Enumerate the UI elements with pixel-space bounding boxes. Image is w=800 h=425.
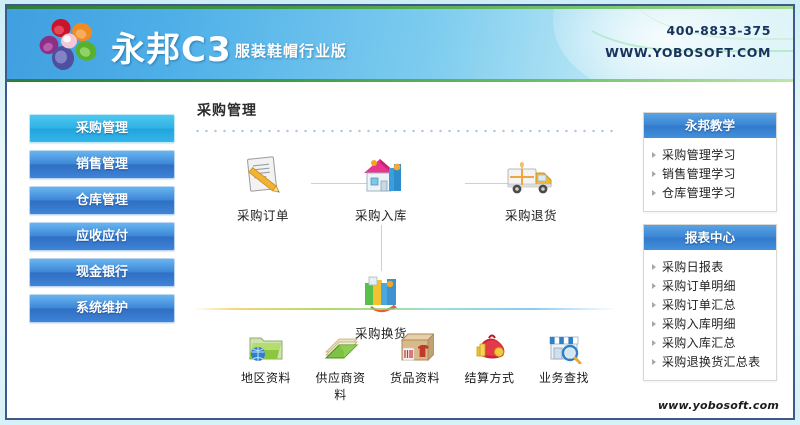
quick-link-settlement-method[interactable]: 结算方式 xyxy=(459,324,521,403)
list-item[interactable]: 采购退换货汇总表 xyxy=(644,353,776,372)
flow-node-purchase-inbound[interactable]: 采购入库 xyxy=(333,147,429,224)
brand-name: 永邦C3 xyxy=(111,22,232,71)
tutorial-card: 永邦教学 采购管理学习 销售管理学习 仓库管理学习 xyxy=(643,112,777,212)
list-item[interactable]: 采购入库汇总 xyxy=(644,334,776,353)
list-item[interactable]: 仓库管理学习 xyxy=(644,184,776,203)
report-center-card-body: 采购日报表 采购订单明细 采购订单汇总 采购入库明细 采购入库汇总 采购退换货汇… xyxy=(644,250,776,380)
flow-node-purchase-return[interactable]: 采购退货 xyxy=(483,147,579,224)
report-center-card: 报表中心 采购日报表 采购订单明细 采购订单汇总 采购入库明细 采购入库汇总 采… xyxy=(643,224,777,381)
delivery-truck-icon xyxy=(483,147,579,199)
brand-subtitle: 服装鞋帽行业版 xyxy=(235,40,347,61)
page-frame: 永邦C3 服装鞋帽行业版 400-8833-375 WWW.YOBOSOFT.C… xyxy=(5,4,795,420)
document-pencil-icon xyxy=(215,147,311,199)
quick-link-label: 地区资料 xyxy=(235,369,297,386)
quick-link-label: 业务查找 xyxy=(533,369,595,386)
sidebar-item-receivable-payable[interactable]: 应收应付 xyxy=(29,222,175,251)
list-item[interactable]: 采购入库明细 xyxy=(644,315,776,334)
quick-link-label: 货品资料 xyxy=(384,369,446,386)
header-contact: 400-8833-375 WWW.YOBOSOFT.COM xyxy=(605,20,771,64)
quick-link-supplier-data[interactable]: 供应商资料 xyxy=(310,324,372,403)
sidebar-item-warehouse[interactable]: 仓库管理 xyxy=(29,186,175,215)
list-item[interactable]: 采购日报表 xyxy=(644,258,776,277)
quick-link-bar: 地区资料 供应商资料 xyxy=(235,324,595,403)
warehouse-house-icon xyxy=(333,147,429,199)
sidebar-nav: 采购管理 销售管理 仓库管理 应收应付 现金银行 系统维护 xyxy=(29,114,175,330)
list-item[interactable]: 销售管理学习 xyxy=(644,165,776,184)
right-panel: 永邦教学 采购管理学习 销售管理学习 仓库管理学习 报表中心 采购日报表 采购订… xyxy=(643,112,777,393)
list-item[interactable]: 采购管理学习 xyxy=(644,146,776,165)
dotted-divider xyxy=(193,129,613,133)
list-item[interactable]: 采购订单汇总 xyxy=(644,296,776,315)
main-content: 采购管理 xyxy=(193,96,623,414)
sidebar-item-cash-bank[interactable]: 现金银行 xyxy=(29,258,175,287)
flower-petals-logo xyxy=(37,17,103,75)
money-purse-icon xyxy=(459,324,521,364)
flow-node-purchase-order[interactable]: 采购订单 xyxy=(215,147,311,224)
report-center-card-title: 报表中心 xyxy=(644,225,776,250)
sidebar-item-system-maintenance[interactable]: 系统维护 xyxy=(29,294,175,323)
flow-node-label: 采购退货 xyxy=(483,205,579,224)
quick-link-label: 供应商资料 xyxy=(310,369,372,403)
app-header: 永邦C3 服装鞋帽行业版 400-8833-375 WWW.YOBOSOFT.C… xyxy=(7,6,793,82)
quick-link-region-data[interactable]: 地区资料 xyxy=(235,324,297,403)
page-title: 采购管理 xyxy=(197,100,623,120)
flow-node-label: 采购入库 xyxy=(333,205,429,224)
company-website[interactable]: WWW.YOBOSOFT.COM xyxy=(605,42,771,64)
green-book-icon xyxy=(310,324,372,364)
app-window: 永邦C3 服装鞋帽行业版 400-8833-375 WWW.YOBOSOFT.C… xyxy=(0,0,800,425)
shop-search-icon xyxy=(533,324,595,364)
carton-box-icon xyxy=(384,324,446,364)
quick-link-goods-data[interactable]: 货品资料 xyxy=(384,324,446,403)
sidebar-item-sales[interactable]: 销售管理 xyxy=(29,150,175,179)
rainbow-divider xyxy=(193,308,617,310)
quick-link-label: 结算方式 xyxy=(459,369,521,386)
folder-globe-icon xyxy=(235,324,297,364)
tutorial-card-title: 永邦教学 xyxy=(644,113,776,138)
quick-link-business-search[interactable]: 业务查找 xyxy=(533,324,595,403)
app-body: 采购管理 销售管理 仓库管理 应收应付 现金银行 系统维护 采购管理 xyxy=(7,82,793,418)
support-phone: 400-8833-375 xyxy=(605,20,771,42)
footer-website[interactable]: www.yobosoft.com xyxy=(658,399,779,412)
tutorial-card-body: 采购管理学习 销售管理学习 仓库管理学习 xyxy=(644,138,776,211)
list-item[interactable]: 采购订单明细 xyxy=(644,277,776,296)
sidebar-item-purchase[interactable]: 采购管理 xyxy=(29,114,175,143)
flow-node-label: 采购订单 xyxy=(215,205,311,224)
